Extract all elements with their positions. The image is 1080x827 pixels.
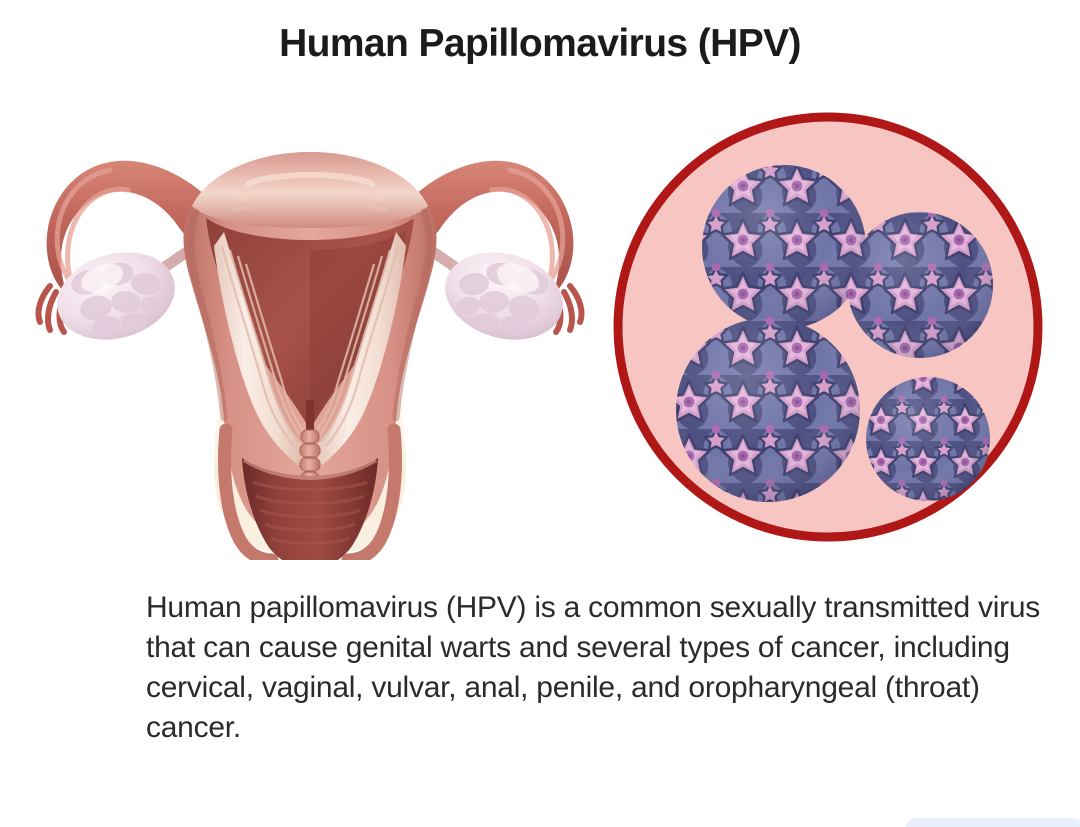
- virion-bottom-right: [866, 377, 990, 501]
- description-text: Human papillomavirus (HPV) is a common s…: [146, 588, 1046, 748]
- hpv-virus-illustration: [608, 105, 1048, 555]
- page-title: Human Papillomavirus (HPV): [0, 22, 1080, 66]
- female-reproductive-system-illustration: [10, 100, 610, 560]
- virion-top-right: [847, 212, 993, 358]
- hpv-infographic-page: Human Papillomavirus (HPV): [0, 0, 1080, 827]
- bottom-partial-chip: [905, 818, 1080, 827]
- virion-top-left: [702, 165, 866, 329]
- illustration-row: [0, 100, 1080, 570]
- virion-bottom-left: [676, 318, 860, 502]
